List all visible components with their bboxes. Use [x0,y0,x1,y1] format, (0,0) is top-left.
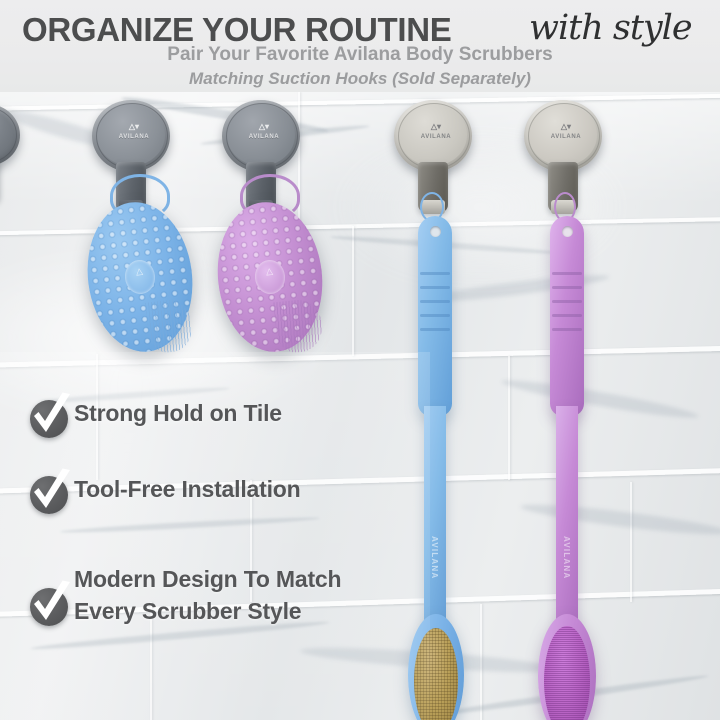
grip-ridge [552,272,582,275]
oval-scrubber-pad-purple[interactable]: △ [218,188,324,354]
avilana-logo-icon: △▾ [394,122,478,131]
brand-label: AVILANA [222,134,306,140]
feature-label: Strong Hold on Tile [74,392,282,430]
hang-hole [430,226,441,237]
product-photo: △▾ AVILANA △▾ AVILANA △▾ AVILANA [0,92,720,720]
grip-ridge [552,300,582,303]
feature-line: Tool-Free Installation [74,474,300,506]
grip-ridge [420,286,450,289]
brand-label: AVILANA [524,134,608,140]
feature-line: Every Scrubber Style [74,596,341,628]
brush-neck [556,406,578,626]
header-banner: ORGANIZE YOUR ROUTINE with style Pair Yo… [0,0,720,92]
suction-hook-partial-left[interactable] [0,104,24,214]
check-glyph-icon [26,580,74,628]
avilana-logo-icon: △▾ [222,122,306,131]
brand-label: AVILANA [430,536,439,579]
product-infographic: ORGANIZE YOUR ROUTINE with style Pair Yo… [0,0,720,720]
oval-scrubber-pad-blue[interactable]: △ [88,188,194,354]
grip-ridge [420,272,450,275]
checkmark-icon [26,468,74,516]
headline-row: ORGANIZE YOUR ROUTINE with style [0,6,720,46]
check-glyph-icon [26,392,74,440]
grip-ridge [552,314,582,317]
grip-ridge [552,328,582,331]
feature-item-1: Strong Hold on Tile [26,392,282,440]
grout-line-vertical [508,356,510,480]
feature-item-3: Modern Design To Match Every Scrubber St… [26,558,341,628]
feature-line: Modern Design To Match [74,564,341,596]
long-handle-brush-purple[interactable]: AVILANA [530,200,616,720]
feature-line: Strong Hold on Tile [74,398,282,430]
brand-label: AVILANA [92,134,176,140]
grip-ridge [420,300,450,303]
subtitle-secondary: Matching Suction Hooks (Sold Separately) [0,69,720,89]
feature-item-2: Tool-Free Installation [26,468,300,516]
avilana-logo-icon: △▾ [92,122,176,131]
avilana-logo-icon: △▾ [524,122,608,131]
grout-line-vertical [630,482,632,602]
brand-label: AVILANA [562,536,571,579]
brand-label: AVILANA [394,134,478,140]
check-glyph-icon [26,468,74,516]
checkmark-icon [26,392,74,440]
subtitle-primary: Pair Your Favorite Avilana Body Scrubber… [0,44,720,66]
feature-label: Tool-Free Installation [74,468,300,506]
script-accent-text: with style [529,8,692,48]
grip-ridge [420,328,450,331]
hang-hole [562,226,573,237]
grip-ridge [420,314,450,317]
feature-label: Modern Design To Match Every Scrubber St… [74,558,341,627]
checkmark-icon [26,580,74,628]
grip-ridge [552,286,582,289]
